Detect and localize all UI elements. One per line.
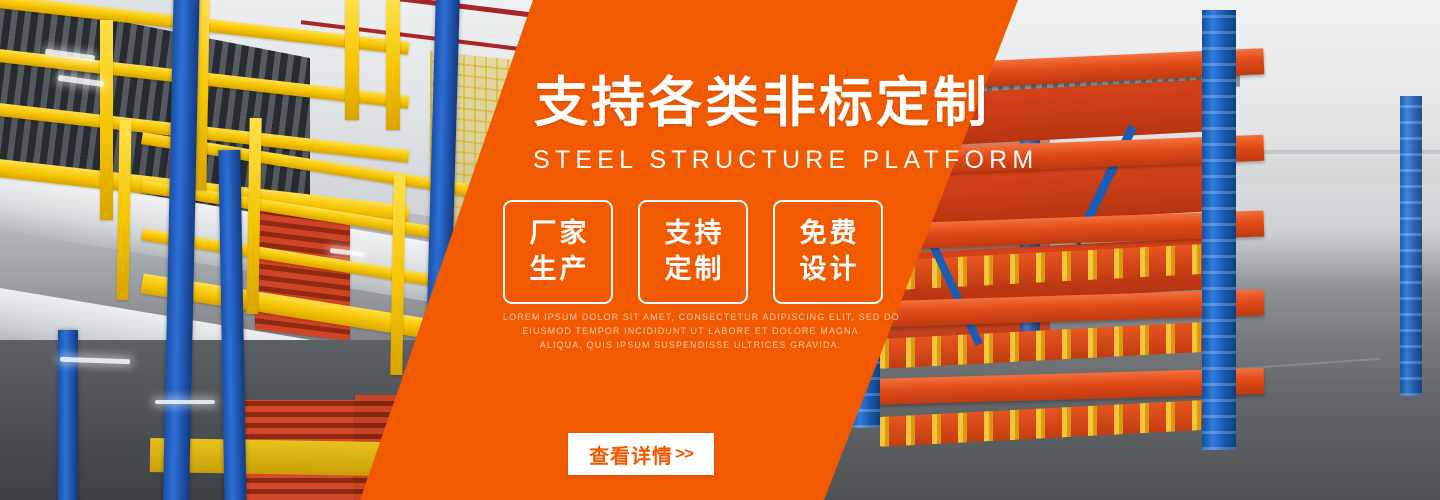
- subtitle: STEEL STRUCTURE PLATFORM: [533, 146, 1038, 175]
- view-details-label: 查看详情: [589, 440, 673, 469]
- feature-badge-free-design: 免费 设计: [773, 200, 883, 304]
- feature-badge-line2: 生产: [527, 252, 590, 288]
- feature-badge-row: 厂家 生产 支持 定制 免费 设计: [503, 200, 883, 304]
- description-line: EIUSMOD TEMPOR INCIDIDUNT UT LABORE ET D…: [503, 324, 878, 338]
- feature-badge-line2: 定制: [662, 252, 725, 288]
- promo-banner: 支持各类非标定制 STEEL STRUCTURE PLATFORM 厂家 生产 …: [0, 0, 1440, 500]
- feature-badge-manufacturer: 厂家 生产: [503, 200, 613, 304]
- feature-badge-line1: 厂家: [527, 216, 590, 252]
- feature-badge-line1: 支持: [662, 216, 725, 252]
- feature-badge-customization: 支持 定制: [638, 200, 748, 304]
- description-text: LOREM IPSUM DOLOR SIT AMET, CONSECTETUR …: [503, 310, 878, 352]
- feature-badge-line1: 免费: [797, 216, 860, 252]
- page-title: 支持各类非标定制: [534, 76, 990, 130]
- view-details-button[interactable]: 查看详情 >>: [568, 433, 714, 475]
- banner-content: 支持各类非标定制 STEEL STRUCTURE PLATFORM 厂家 生产 …: [0, 0, 1440, 500]
- description-line: ALIQUA. QUIS IPSUM SUSPENDISSE ULTRICES …: [503, 338, 878, 352]
- chevron-right-icon: >>: [675, 444, 693, 464]
- description-line: LOREM IPSUM DOLOR SIT AMET, CONSECTETUR …: [503, 310, 878, 324]
- feature-badge-line2: 设计: [797, 252, 860, 288]
